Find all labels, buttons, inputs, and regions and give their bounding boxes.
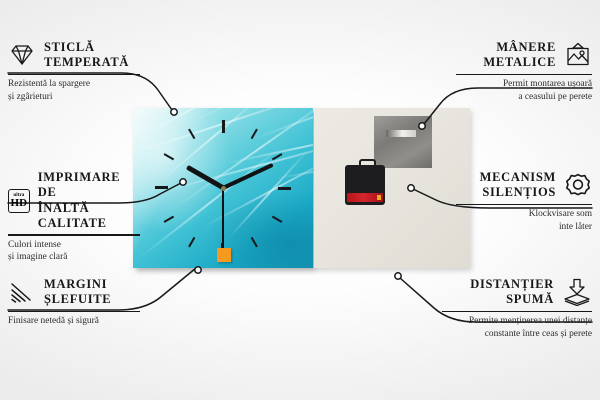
callout-rule <box>8 74 140 76</box>
callout-subtitle: Permite menținerea unei distanțe constan… <box>442 315 592 340</box>
callout-title: Mecanism silențios <box>480 170 556 201</box>
callout-title: Distanțier spumă <box>470 277 554 308</box>
hanging-frame-icon <box>564 42 592 68</box>
gear-icon <box>564 172 592 198</box>
wire-dot-sticla <box>171 109 177 115</box>
callout-subtitle: Finisare netedă și sigură <box>8 315 140 327</box>
callout-distantier-spuma: Distanțier spumă Permite menținerea unei… <box>442 277 592 340</box>
callout-subtitle: Permit montarea ușoară a ceasului pe per… <box>456 78 592 103</box>
callout-title: Sticlă temperată <box>44 40 129 71</box>
ultra-hd-icon-main: HD <box>11 198 28 209</box>
callout-margini-slefuite: Margini șlefuite Finisare netedă și sigu… <box>8 277 140 328</box>
diamond-icon <box>8 43 36 67</box>
wire-dot-margini <box>195 267 201 273</box>
callout-manere-metalice: Mânere metalice Permit montarea ușoară a… <box>456 40 592 103</box>
callout-imprimare-inalta-calitate: ultra HD Imprimare de înaltă calitate Cu… <box>8 170 140 263</box>
callout-rule <box>8 234 140 236</box>
wire-dot-mecanism <box>408 185 414 191</box>
wire-dot-imprimare <box>180 179 186 185</box>
ultra-hd-icon: ultra HD <box>8 189 30 213</box>
wire-dot-manere <box>419 123 425 129</box>
callout-title: Margini șlefuite <box>44 277 111 308</box>
callout-rule <box>456 204 592 206</box>
callout-sticla-temperata: Sticlă temperată Rezistentă la spargere … <box>8 40 140 103</box>
callout-rule <box>442 311 592 313</box>
callout-subtitle: Rezistentă la spargere și zgârieturi <box>8 78 140 103</box>
wire-dot-distantier <box>395 273 401 279</box>
foam-spacer-icon <box>562 278 592 306</box>
callout-title: Imprimare de înaltă calitate <box>38 170 140 231</box>
infographic-poster: Sticlă temperată Rezistentă la spargere … <box>0 0 600 400</box>
callout-mecanism-silentios: Mecanism silențios Klockvisare som inte … <box>456 170 592 233</box>
polished-edges-icon <box>8 280 36 304</box>
callout-subtitle: Klockvisare som inte låter <box>456 208 592 233</box>
callout-title: Mânere metalice <box>483 40 556 71</box>
callout-rule <box>456 74 592 76</box>
callout-subtitle: Culori intense și imagine clară <box>8 239 140 264</box>
callout-rule <box>8 311 140 313</box>
